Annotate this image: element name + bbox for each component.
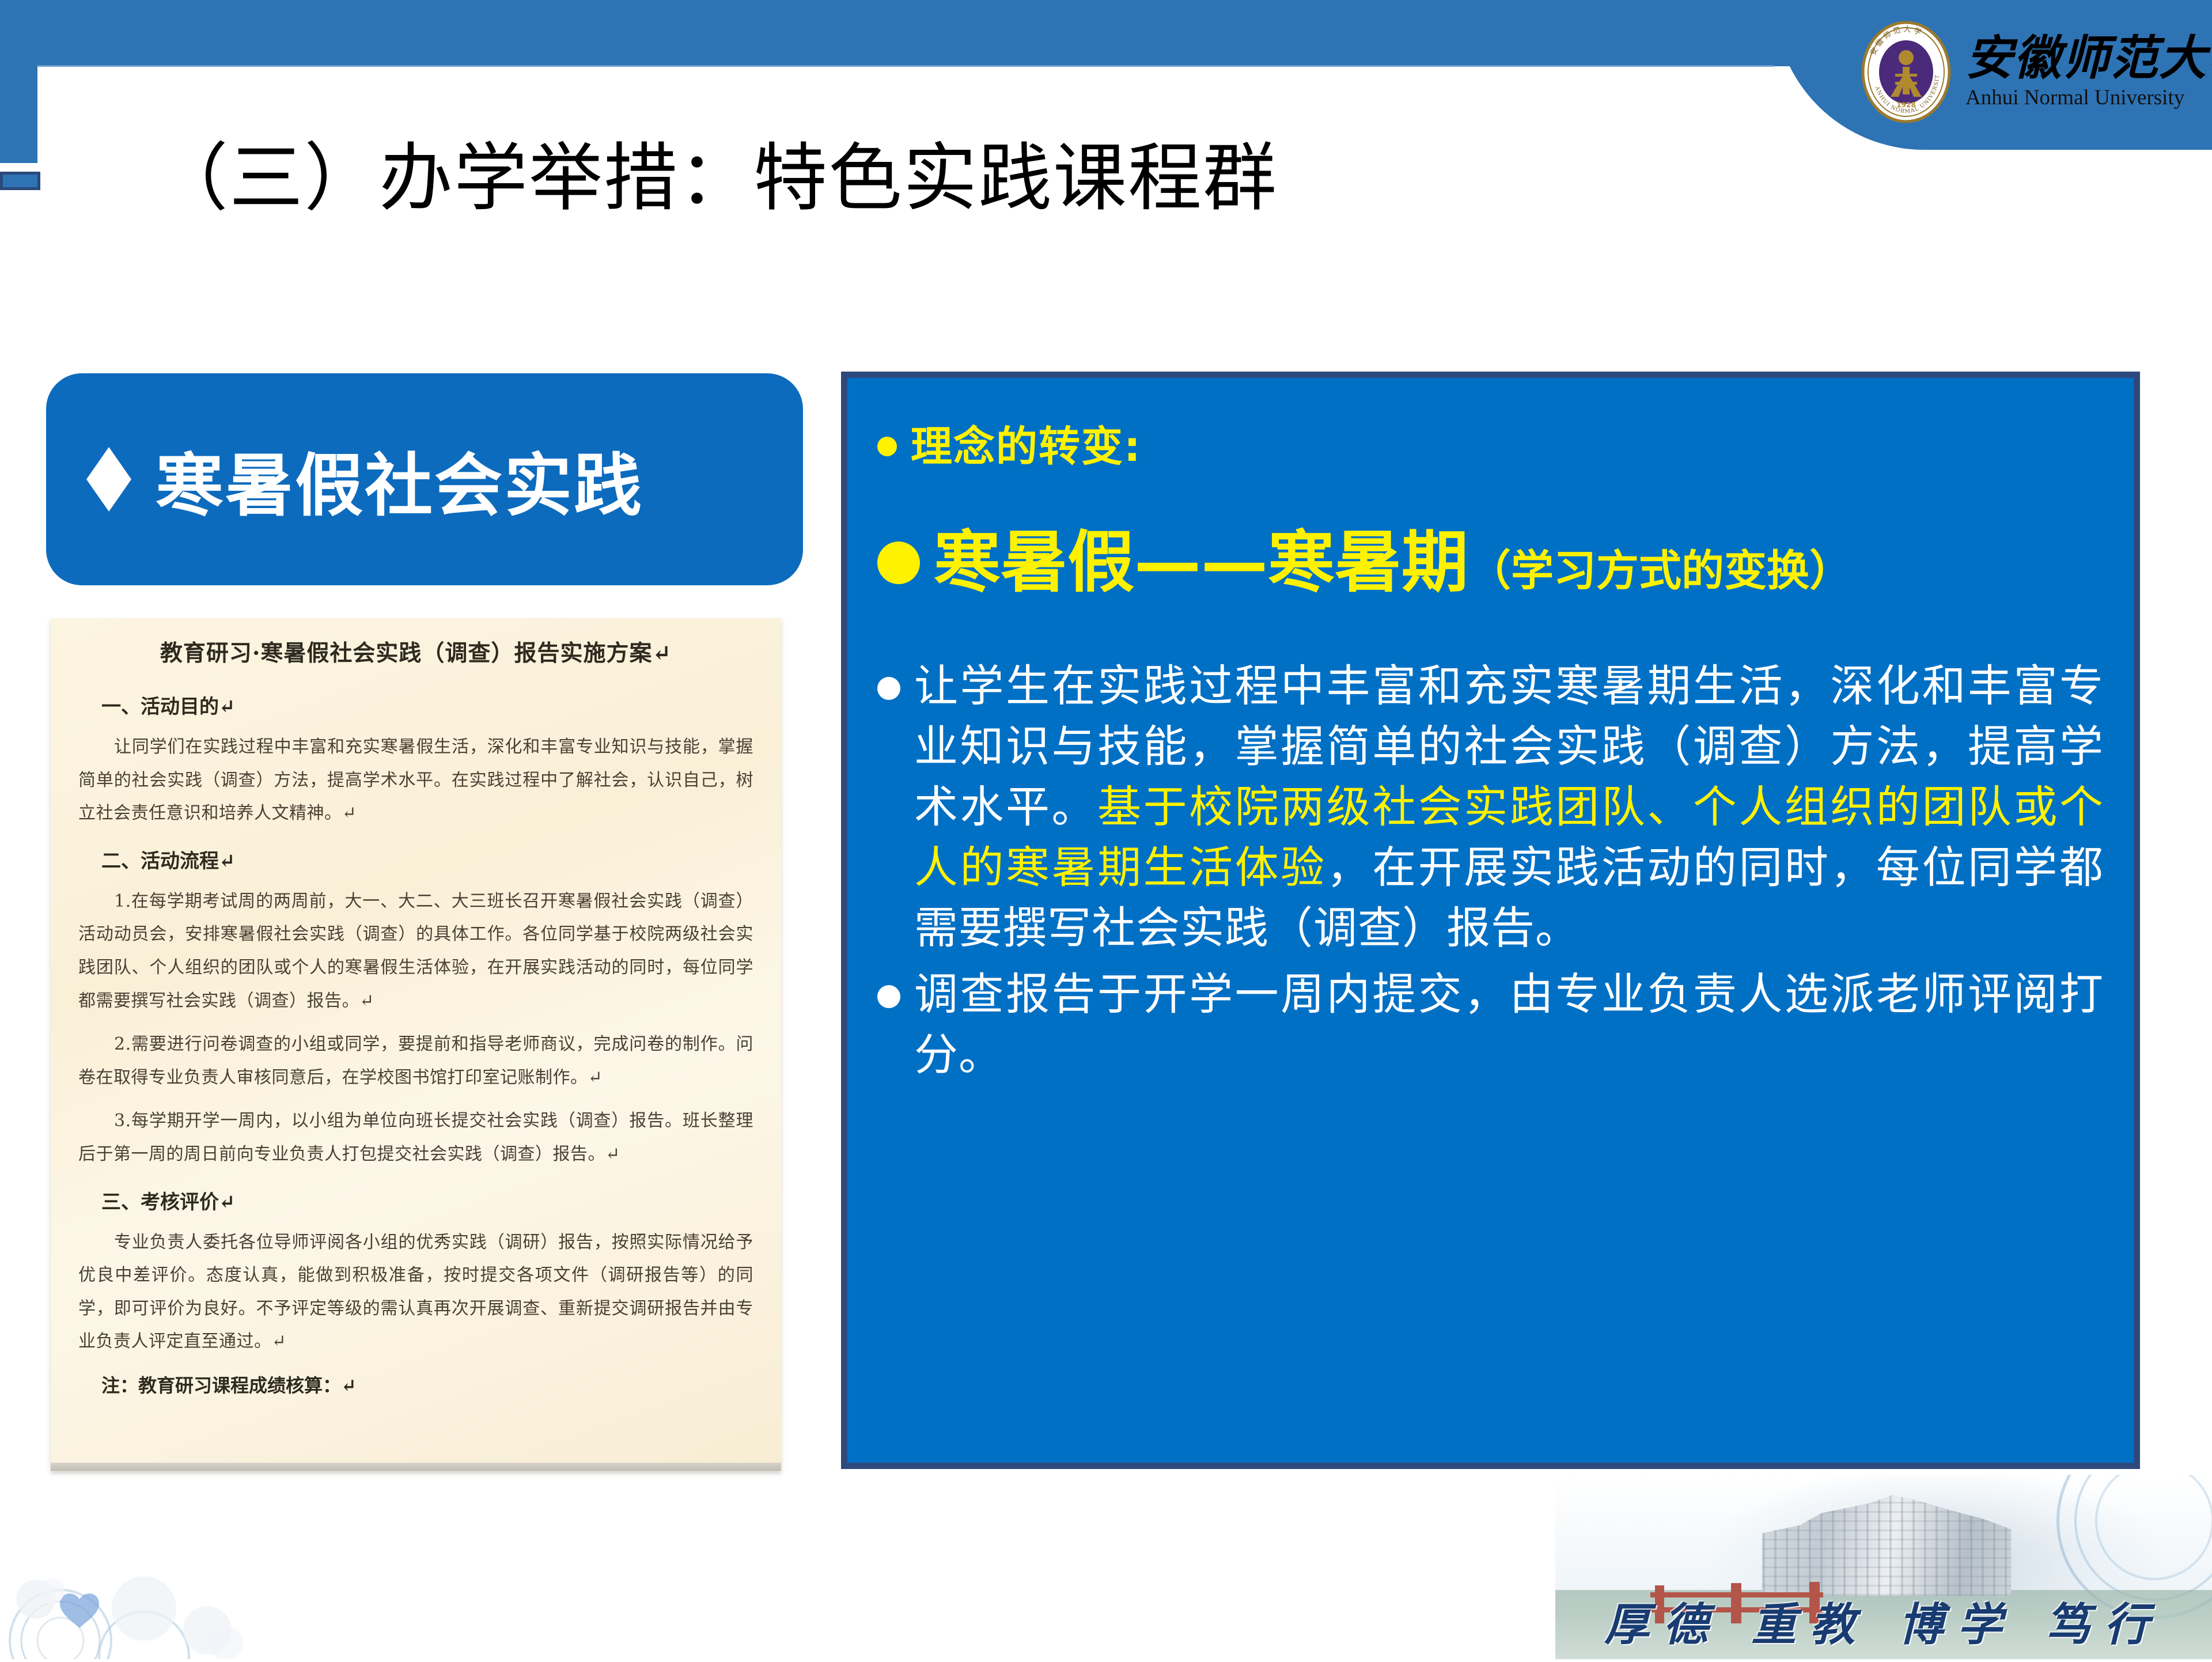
header-left-accent-bar <box>0 0 37 163</box>
doc-note: 注：教育研习课程成绩核算：↵ <box>101 1371 753 1398</box>
headline-sub: （学习方式的变换） <box>1468 546 1852 596</box>
bullet-dot-icon <box>877 437 897 456</box>
doc-paragraph: 让同学们在实践过程中丰富和充实寒暑假生活，深化和丰富专业知识与技能，掌握简单的社… <box>78 730 753 830</box>
header-hairline-divider <box>37 65 1774 67</box>
bullet-dot-icon <box>877 677 900 700</box>
paragraph-1: 让学生在实践过程中丰富和充实寒暑期生活，深化和丰富专业知识与技能，掌握简单的社会… <box>914 656 2104 958</box>
logo-name-cn: 安徽师范大学 <box>1965 35 2212 82</box>
doc-heading-2: 二、活动流程↵ <box>101 845 753 873</box>
doc-paragraph: 专业负责人委托各位导师评阅各小组的优秀实践（调研）报告，按照实际情况给予优良中差… <box>78 1226 753 1358</box>
campus-photo-footer: 厚德 重教 博学 笃行 <box>1555 1475 2212 1659</box>
bullet-item-headline: 寒暑假——寒暑期（学习方式的变换） <box>877 524 2104 601</box>
bullet-dot-icon <box>877 542 920 584</box>
headline-main: 寒暑假——寒暑期 <box>934 524 1468 601</box>
heart-icon <box>60 1593 99 1628</box>
header-left-accent-square <box>0 172 40 190</box>
diamond-bullet-icon <box>86 447 131 512</box>
bullet-item-paragraph-2: 调查报告于开学一周内提交，由专业负责人选派老师评阅打分。 <box>877 964 2104 1085</box>
bullet-item-paragraph-1: 让学生在实践过程中丰富和充实寒暑期生活，深化和丰富专业知识与技能，掌握简单的社会… <box>877 656 2104 958</box>
doc-heading-1: 一、活动目的↵ <box>101 691 753 719</box>
decorative-corner-graphic <box>0 1486 323 1659</box>
concept-line-text: 理念的转变: <box>911 421 1142 472</box>
document-scan-image: 教育研习·寒暑假社会实践（调查）报告实施方案↵ 一、活动目的↵ 让同学们在实践过… <box>51 618 781 1471</box>
headline-text: 寒暑假——寒暑期（学习方式的变换） <box>934 524 1852 601</box>
doc-paragraph: 3.每学期开学一周内，以小组为单位向班长提交社会实践（调查）报告。班长整理后于第… <box>78 1104 753 1171</box>
bullet-item-concept: 理念的转变: <box>877 421 2104 472</box>
bullet-dot-icon <box>877 985 900 1008</box>
section-badge-winter-summer-practice[interactable]: 寒暑假社会实践 <box>46 373 803 585</box>
university-logo: 1928 ANHUI NORMAL UNIVERSITY 安徽师范大学 安徽师范… <box>1861 14 2200 130</box>
paragraph-2: 调查报告于开学一周内提交，由专业负责人选派老师评阅打分。 <box>914 964 2104 1085</box>
university-seal-icon: 1928 ANHUI NORMAL UNIVERSITY 安徽师范大学 <box>1861 21 1952 123</box>
logo-name-en: Anhui Normal University <box>1965 86 2212 110</box>
content-panel: 理念的转变: 寒暑假——寒暑期（学习方式的变换） 让学生在实践过程中丰富和充实寒… <box>841 372 2140 1469</box>
slide-title: （三）办学举措：特色实践课程群 <box>154 118 1278 225</box>
doc-paragraph: 1.在每学期考试周的两周前，大一、大二、大三班长召开寒暑假社会实践（调查）活动动… <box>78 885 753 1017</box>
doc-paragraph: 2.需要进行问卷调查的小组或同学，要提前和指导老师商议，完成问卷的制作。问卷在取… <box>78 1028 753 1094</box>
doc-title: 教育研习·寒暑假社会实践（调查）报告实施方案↵ <box>78 635 753 668</box>
university-motto: 厚德 重教 博学 笃行 <box>1555 1589 2212 1653</box>
section-badge-label: 寒暑假社会实践 <box>156 430 643 529</box>
doc-heading-3: 三、考核评价↵ <box>101 1186 753 1214</box>
